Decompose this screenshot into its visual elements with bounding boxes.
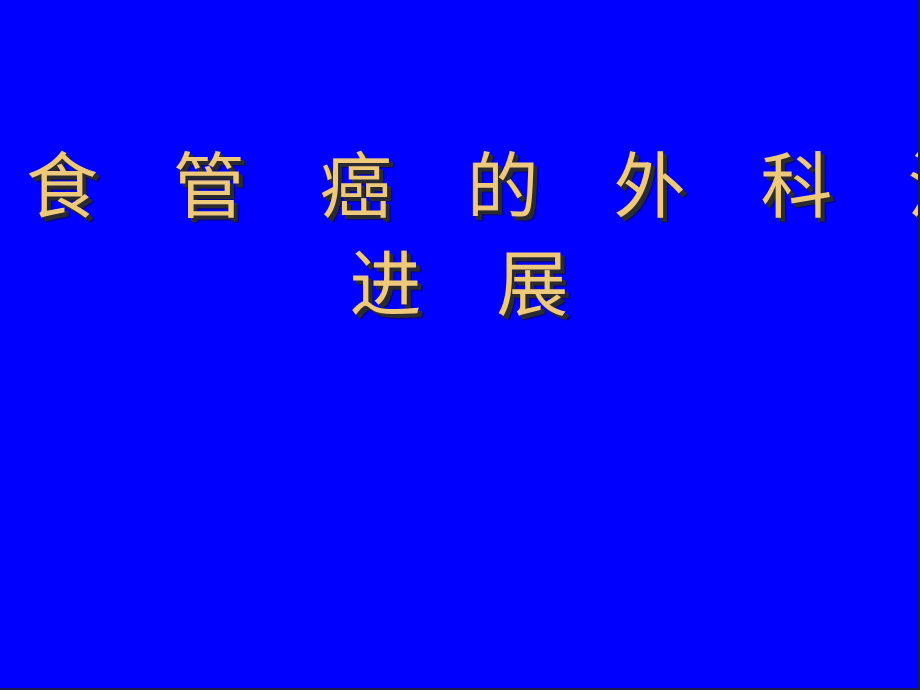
presentation-slide: 食 管 癌 的 外 科 治 疗 进 展 [0,0,920,690]
slide-title: 食 管 癌 的 外 科 治 疗 进 展 [0,138,918,334]
slide-title-line-2: 进 展 [0,236,918,334]
slide-title-line-1: 食 管 癌 的 外 科 治 疗 [0,138,918,236]
